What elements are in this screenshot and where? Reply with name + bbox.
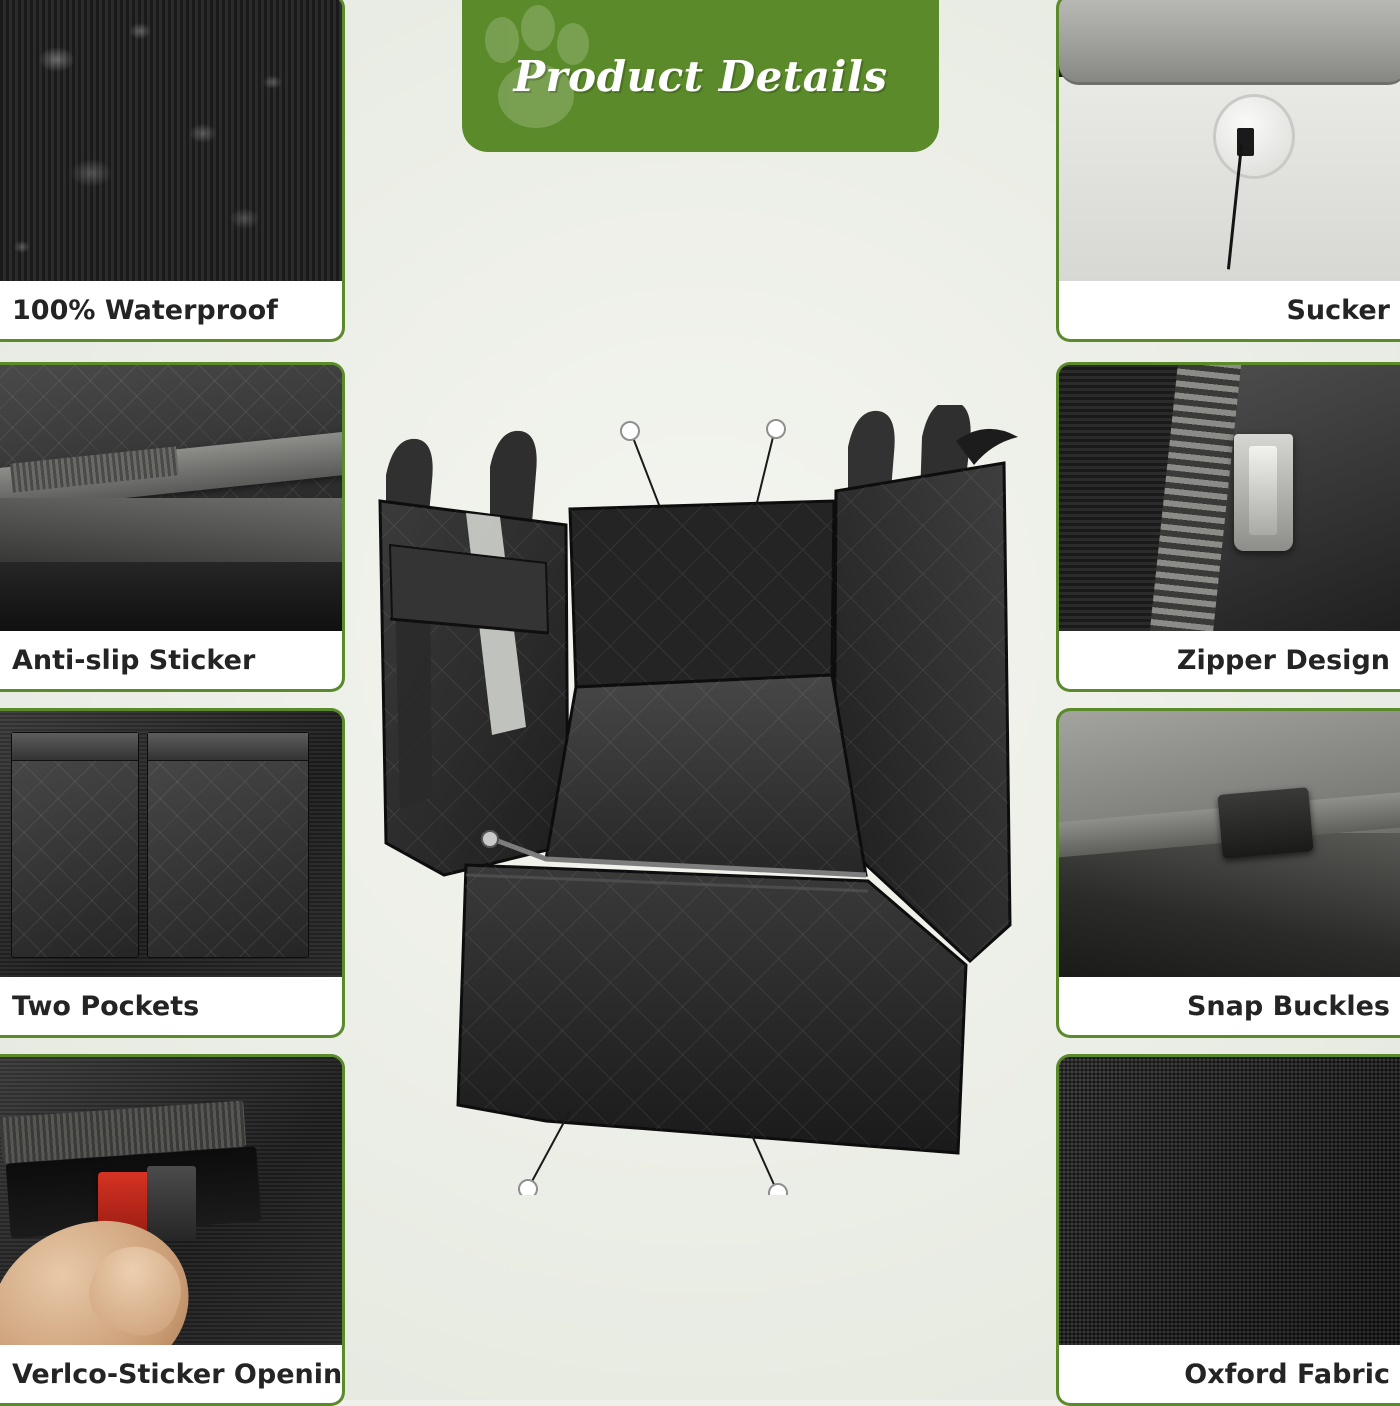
feature-caption: Oxford Fabric <box>1059 1345 1400 1403</box>
feature-card-anti-slip[interactable]: Anti-slip Sticker <box>0 362 345 692</box>
feature-card-two-pockets[interactable]: Two Pockets <box>0 708 345 1038</box>
feature-caption: Snap Buckles <box>1059 977 1400 1035</box>
caption-text: Sucker <box>1286 295 1390 326</box>
feature-caption: 100% Waterproof <box>0 281 342 339</box>
velcro-openings-photo <box>0 1057 342 1345</box>
zipper-photo <box>1059 365 1400 631</box>
anti-slip-photo <box>0 365 342 631</box>
front-hammock-flap <box>458 865 966 1153</box>
caption-text: Two Pockets <box>12 991 199 1022</box>
feature-caption: Zipper Design <box>1059 631 1400 689</box>
sucker-photo <box>1059 0 1400 281</box>
oxford-fabric-photo <box>1059 1057 1400 1345</box>
feature-card-zipper[interactable]: Zipper Design <box>1056 362 1400 692</box>
waterproof-photo <box>0 0 342 281</box>
feature-card-snap-buckles[interactable]: Snap Buckles <box>1056 708 1400 1038</box>
zipper-pull-icon <box>1234 434 1293 551</box>
caption-text: Snap Buckles <box>1187 991 1390 1022</box>
feature-caption: Two Pockets <box>0 977 342 1035</box>
feature-card-sucker[interactable]: Sucker <box>1056 0 1400 342</box>
page-title: Product Details <box>462 52 939 101</box>
header-banner: Product Details <box>462 0 939 152</box>
caption-text: 100% Waterproof <box>12 295 278 326</box>
seat-back-panel <box>570 501 834 687</box>
caption-text: Anti-slip Sticker <box>12 645 255 676</box>
left-side-panel <box>380 501 568 875</box>
caption-text: Zipper Design <box>1177 645 1390 676</box>
caption-text: Oxford Fabric <box>1184 1359 1390 1390</box>
feature-card-oxford-fabric[interactable]: Oxford Fabric <box>1056 1054 1400 1406</box>
product-illustration <box>370 405 1050 1195</box>
feature-caption: Anti-slip Sticker <box>0 631 342 689</box>
feature-caption: Verlco-Sticker Openings <box>0 1345 342 1403</box>
feature-caption: Sucker <box>1059 281 1400 339</box>
feature-card-velcro-openings[interactable]: Verlco-Sticker Openings <box>0 1054 345 1406</box>
feature-card-waterproof[interactable]: 100% Waterproof <box>0 0 345 342</box>
caption-text: Verlco-Sticker Openings <box>12 1359 345 1390</box>
two-pockets-photo <box>0 711 342 977</box>
snap-buckles-photo <box>1059 711 1400 977</box>
buckle-clip-icon <box>1217 787 1313 858</box>
seat-base-panel <box>546 675 866 875</box>
